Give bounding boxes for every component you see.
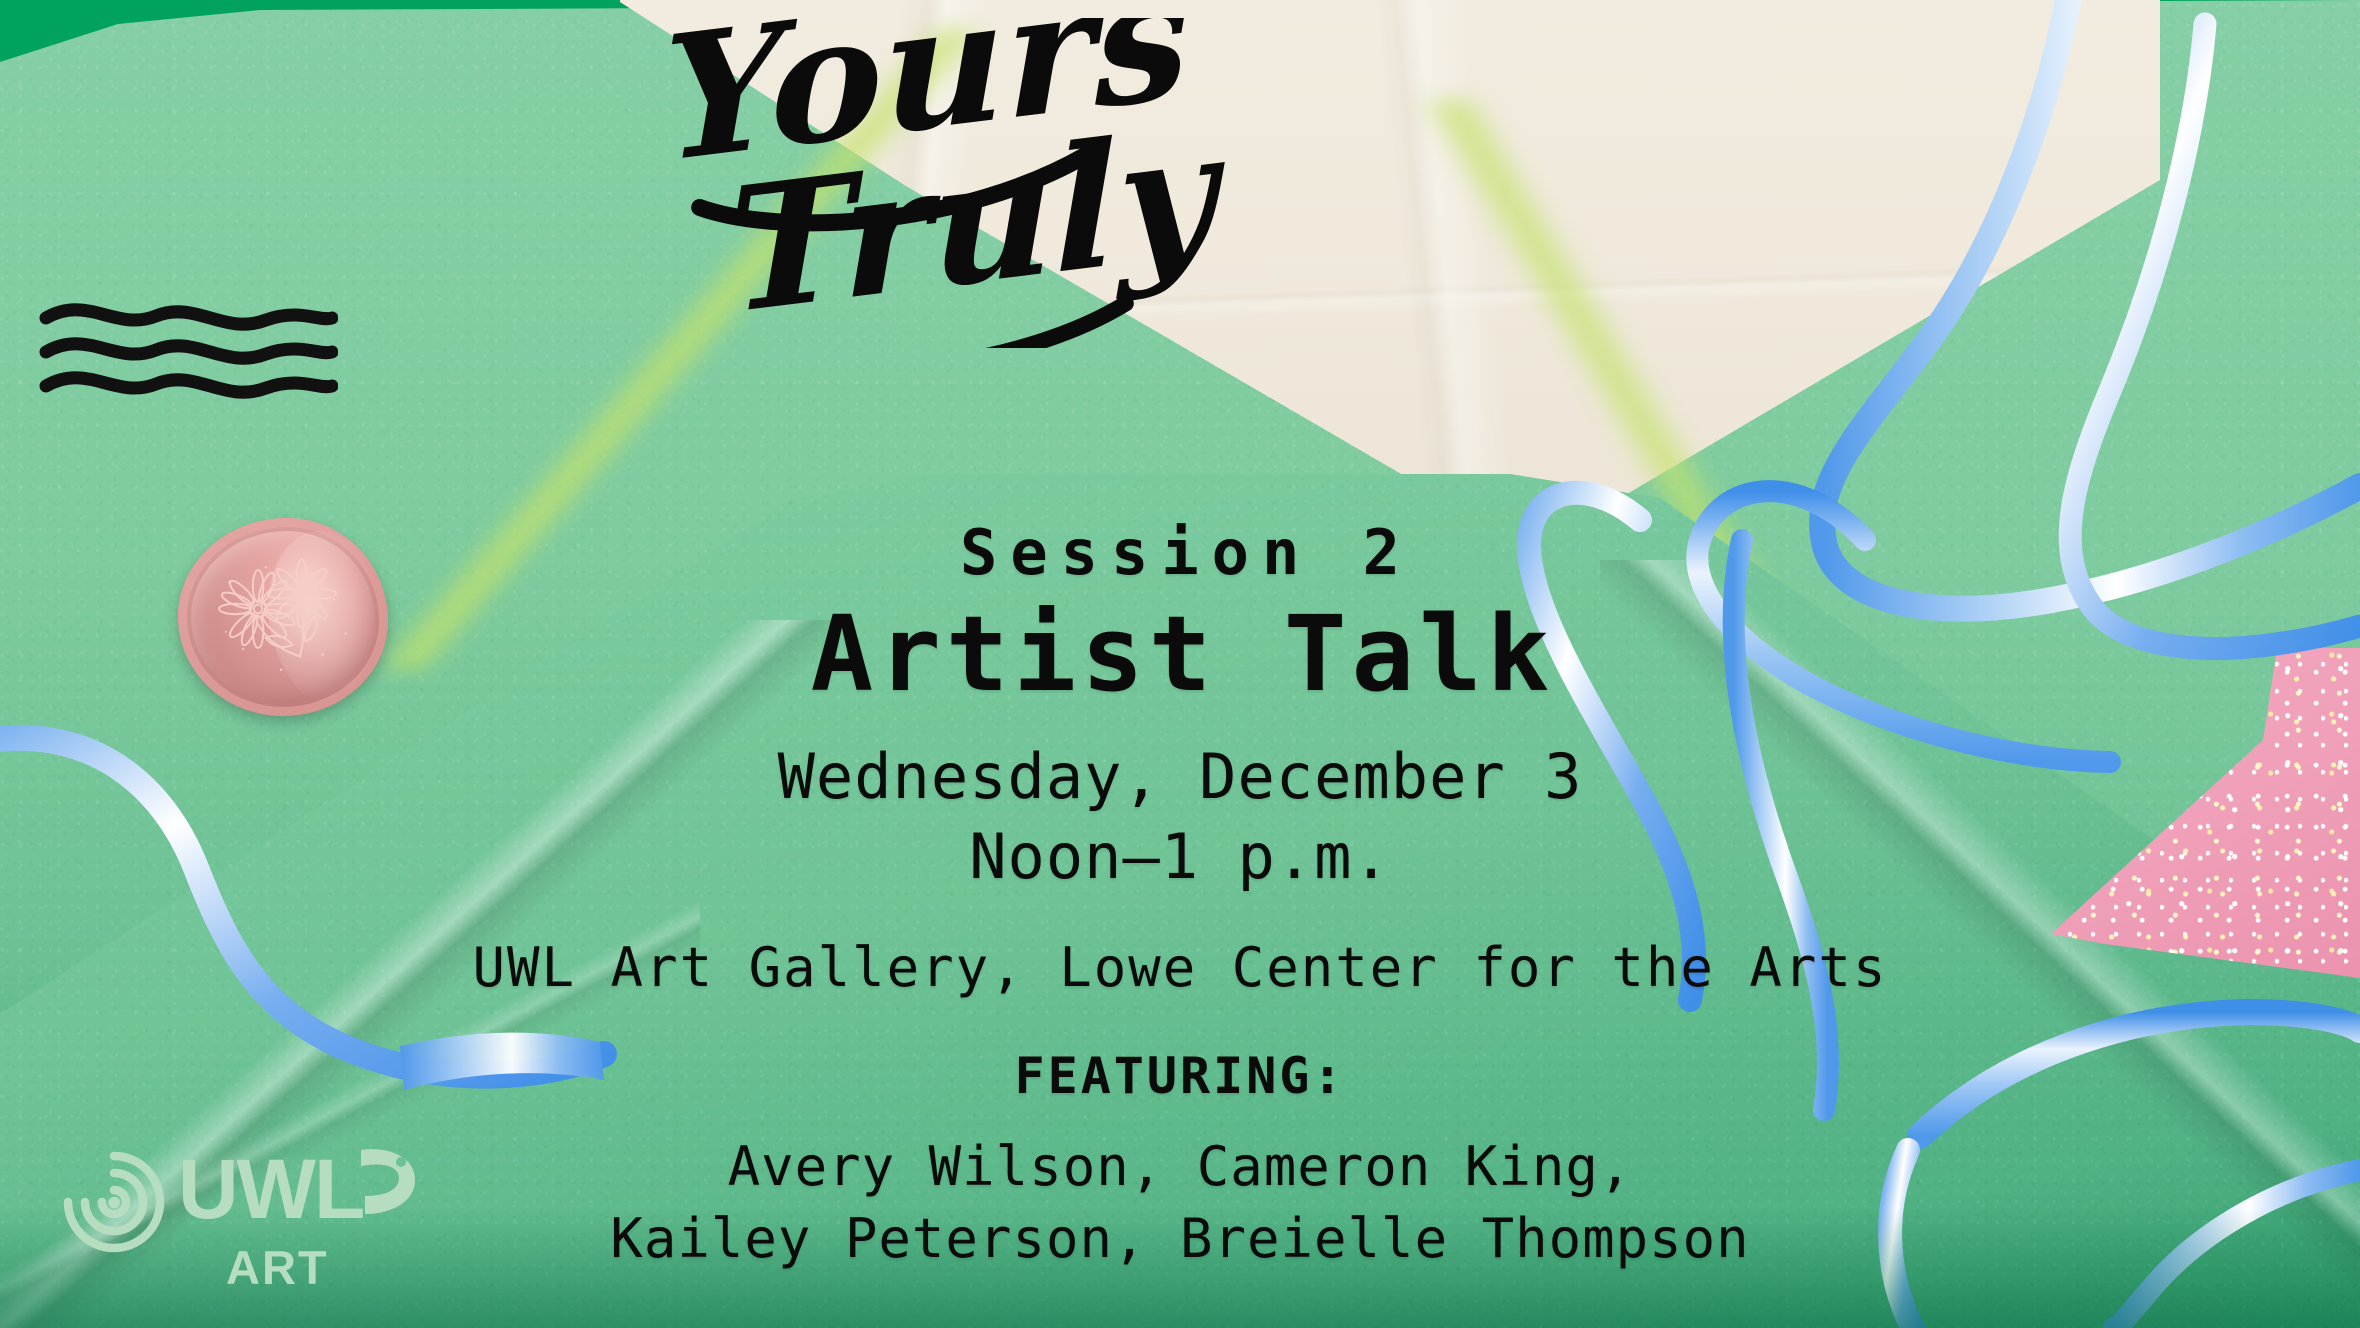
uwl-art-logo: UWL ART xyxy=(50,1140,390,1290)
event-time: Noon–1 p.m. xyxy=(0,817,2360,898)
featuring-label: FEATURING: xyxy=(0,1047,2360,1105)
uwl-letters: UWL xyxy=(178,1149,363,1230)
yours-truly-script-logo: Yours Truly xyxy=(660,18,1300,348)
event-poster: Yours Truly xyxy=(0,0,2360,1328)
session-label: Session 2 xyxy=(13,520,2360,585)
event-title: Artist Talk xyxy=(5,595,2360,715)
postal-cancellation-waves-icon xyxy=(38,296,338,406)
unit-label: ART xyxy=(226,1240,419,1295)
event-date: Wednesday, December 3 xyxy=(0,737,2360,818)
eagle-head-icon xyxy=(357,1140,419,1218)
uwl-wordmark: UWL ART xyxy=(178,1140,419,1295)
uwl-spiral-mark-icon xyxy=(58,1146,170,1258)
event-venue: UWL Art Gallery, Lowe Center for the Art… xyxy=(0,936,2360,999)
